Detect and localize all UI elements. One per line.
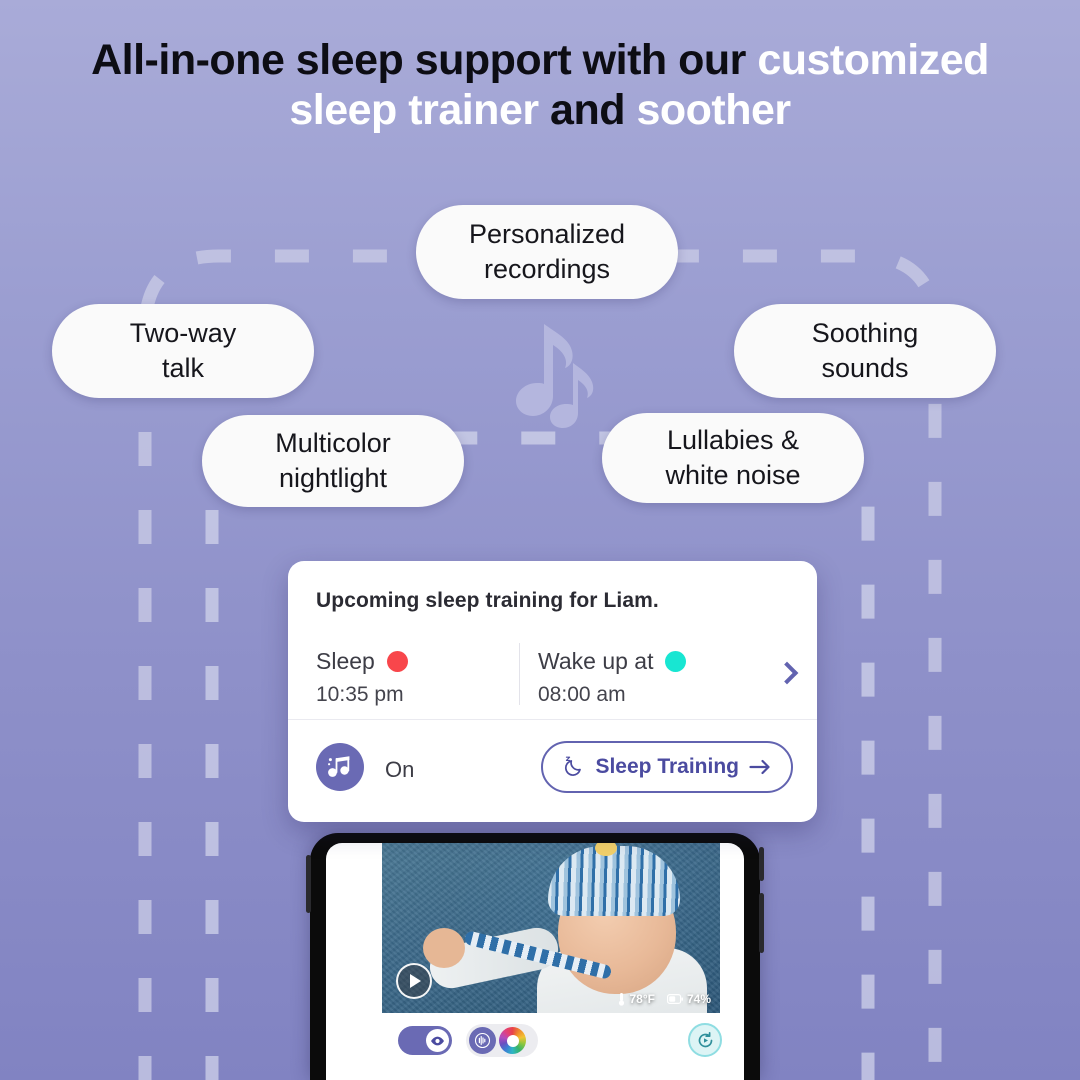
moon-zzz-icon (563, 756, 585, 778)
sound-waves-glyph-icon (474, 1032, 491, 1049)
sleep-status-dot (387, 651, 408, 672)
page-title: All-in-one sleep support with our custom… (0, 36, 1080, 136)
feature-pill-line1: Two-way (130, 316, 237, 351)
headline-line1-light: customized (757, 36, 989, 84)
baby-hat (548, 846, 680, 916)
chevron-right-icon[interactable] (776, 662, 799, 685)
battery-icon (667, 994, 683, 1004)
camera-feed[interactable]: 78°F 74% (382, 843, 720, 1013)
feature-pill-two-way-talk[interactable]: Two-way talk (52, 304, 314, 398)
sleep-training-button[interactable]: Sleep Training (541, 741, 793, 793)
feature-pill-line2: sounds (812, 351, 919, 386)
feed-status-overlay: 78°F 74% (618, 992, 711, 1006)
music-notes-icon[interactable] (316, 743, 364, 791)
thermometer-icon (618, 992, 625, 1006)
mode-segmented-control[interactable] (466, 1024, 538, 1057)
feature-pill-personalized-recordings[interactable]: Personalized recordings (416, 205, 678, 299)
eye-icon (426, 1029, 449, 1052)
music-status-label: On (385, 757, 414, 783)
eye-glyph-icon (430, 1036, 445, 1046)
feature-pill-line2: white noise (665, 458, 800, 493)
temperature-value: 78°F (629, 992, 654, 1006)
camera-control-bar (326, 1017, 744, 1063)
phone-volume-button[interactable] (306, 855, 311, 913)
phone-side-button-top[interactable] (759, 847, 764, 881)
play-icon[interactable] (396, 963, 432, 999)
slot-divider (519, 643, 520, 705)
baby-hand (423, 928, 465, 968)
feature-pill-line1: Multicolor (275, 426, 391, 461)
headline-line2-light-a: sleep trainer (289, 86, 550, 134)
battery-value: 74% (687, 992, 711, 1006)
phone-mockup: 78°F 74% (310, 833, 760, 1080)
card-title: Upcoming sleep training for Liam. (316, 589, 659, 613)
music-notes-glyph-icon (327, 755, 353, 779)
phone-power-button[interactable] (759, 893, 764, 953)
replay-glyph-icon (696, 1031, 715, 1050)
wake-time: 08:00 am (538, 683, 686, 707)
feature-pill-line2: recordings (469, 252, 625, 287)
sleep-training-button-label: Sleep Training (595, 755, 739, 779)
baby-hat-pompom (595, 843, 617, 856)
eye-toggle[interactable] (398, 1026, 452, 1055)
sound-waves-icon[interactable] (469, 1027, 496, 1054)
wake-label: Wake up at (538, 648, 653, 675)
feature-pill-line1: Soothing (812, 316, 919, 351)
feature-pill-soothing-sounds[interactable]: Soothing sounds (734, 304, 996, 398)
headline-line2-dark: and (550, 86, 625, 134)
wake-status-dot (665, 651, 686, 672)
headline-line2-light-b: soother (625, 86, 791, 134)
replay-icon[interactable] (688, 1023, 722, 1057)
sleep-label: Sleep (316, 648, 375, 675)
color-wheel-icon[interactable] (499, 1027, 526, 1054)
feature-pill-line1: Personalized (469, 217, 625, 252)
music-notes-decoration-icon (497, 318, 597, 428)
wake-slot: Wake up at 08:00 am (538, 648, 686, 707)
phone-screen: 78°F 74% (326, 843, 744, 1080)
feature-pill-line2: nightlight (275, 461, 391, 496)
sleep-slot: Sleep 10:35 pm (316, 648, 408, 707)
sleep-training-card[interactable]: Upcoming sleep training for Liam. Sleep … (288, 561, 817, 822)
arrow-right-icon (749, 759, 771, 775)
feature-pill-line2: talk (130, 351, 237, 386)
card-divider (288, 719, 817, 720)
feature-pill-lullabies-white-noise[interactable]: Lullabies & white noise (602, 413, 864, 503)
feature-pill-line1: Lullabies & (665, 423, 800, 458)
headline-line1-dark: All-in-one sleep support with our (91, 36, 757, 84)
feature-pill-multicolor-nightlight[interactable]: Multicolor nightlight (202, 415, 464, 507)
sleep-time: 10:35 pm (316, 683, 408, 707)
